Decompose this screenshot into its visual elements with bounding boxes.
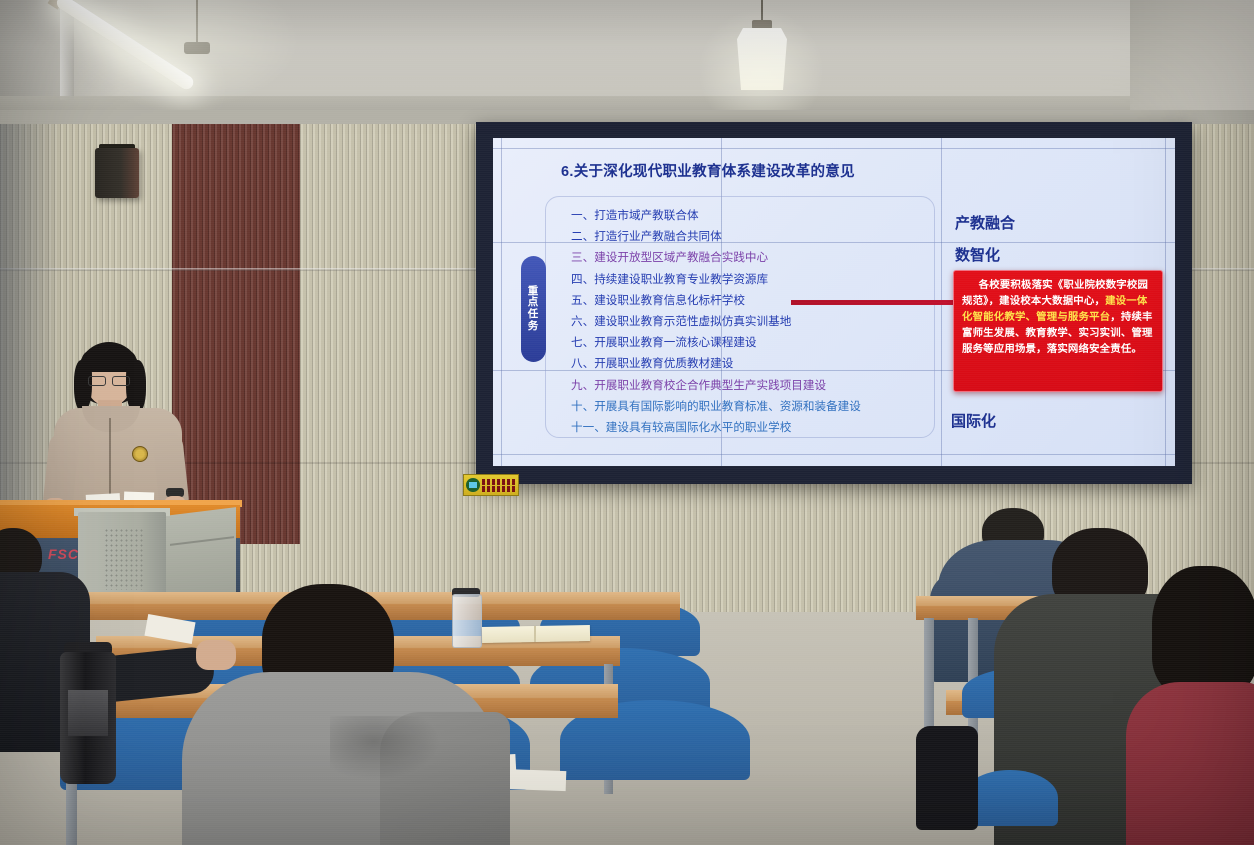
list-item: 四、持续建设职业教育专业教学资源库 xyxy=(571,274,951,286)
pendant-cap xyxy=(752,20,772,29)
bag xyxy=(916,726,978,830)
keyword-guojihua: 国际化 xyxy=(951,410,996,431)
open-notebook xyxy=(482,625,590,643)
list-item: 八、开展职业教育优质教材建设 xyxy=(571,358,951,370)
light-stem xyxy=(196,0,198,44)
glasses-icon xyxy=(88,376,130,384)
presentation-slide: 6.关于深化现代职业教育体系建设改革的意见 重 点 任 务 一、打造市域产教联合… xyxy=(493,138,1175,466)
list-item: 三、建设开放型区域产教融合实践中心 xyxy=(571,252,951,264)
lectern-side-panel xyxy=(164,507,236,602)
presenter-badge xyxy=(132,446,148,462)
callout-text: 各校要积极落实《职业院校数字校园规范》，建设校本大数据中心，建设一体化智能化教学… xyxy=(962,278,1154,358)
list-item: 七、开展职业教育一流核心课程建设 xyxy=(571,337,951,349)
presenter-zipper xyxy=(109,418,111,504)
list-item: 二、打造行业产教融合共同体 xyxy=(571,231,951,243)
wall-speaker-icon xyxy=(95,148,139,198)
list-item: 十、开展具有国际影响的职业教育标准、资源和装备建设 xyxy=(571,401,951,413)
slide-gridline xyxy=(1165,138,1166,466)
slide-surface: 6.关于深化现代职业教育体系建设改革的意见 重 点 任 务 一、打造市域产教联合… xyxy=(493,138,1175,466)
keyword-shuzhihua: 数智化 xyxy=(955,244,1000,265)
lectern-vent-grille xyxy=(104,528,144,590)
audience-arm xyxy=(930,572,1000,682)
light-mount xyxy=(184,42,210,54)
key-tasks-char-4: 务 xyxy=(528,321,540,333)
key-tasks-tab: 重 点 任 务 xyxy=(521,256,546,362)
list-item: 一、打造市域产教联合体 xyxy=(571,210,951,222)
monitor-icon xyxy=(466,478,480,492)
red-callout-box: 各校要积极落实《职业院校数字校园规范》，建设校本大数据中心，建设一体化智能化教学… xyxy=(953,270,1163,392)
presenter-hair-left xyxy=(74,360,92,412)
slide-item-list: 一、打造市域产教联合体 二、打造行业产教融合共同体 三、建设开放型区域产教融合实… xyxy=(571,210,951,443)
slide-gridline xyxy=(493,454,1175,455)
audience-hand xyxy=(196,640,236,670)
pendant-lantern-light-icon xyxy=(737,28,787,90)
list-item: 十一、建设具有较高国际化水平的职业学校 xyxy=(571,422,951,434)
list-item: 九、开展职业教育校企合作典型生产实践项目建设 xyxy=(571,380,951,392)
notebook-spine xyxy=(534,626,536,642)
audience-head xyxy=(1152,566,1254,696)
thermos-label xyxy=(68,690,108,736)
pendant-cord xyxy=(761,0,763,22)
keyword-chanjiao-ronghe: 产教融合 xyxy=(955,212,1015,233)
slide-gridline xyxy=(501,138,502,466)
slide-title: 6.关于深化现代职业教育体系建设改革的意见 xyxy=(561,160,855,181)
water-bottle xyxy=(452,594,482,648)
notice-text-lines xyxy=(482,479,516,492)
list-item: 六、建设职业教育示范性虚拟仿真实训基地 xyxy=(571,316,951,328)
projection-screen[interactable]: 6.关于深化现代职业教育体系建设改革的意见 重 点 任 务 一、打造市域产教联合… xyxy=(476,122,1192,484)
audience-shading xyxy=(330,716,440,780)
key-tasks-char-3: 任 xyxy=(528,309,540,321)
ceiling-column-right xyxy=(1130,0,1254,120)
audience-body xyxy=(1126,682,1254,845)
safety-notice-sign xyxy=(463,474,519,496)
lecture-hall-scene: 6.关于深化现代职业教育体系建设改革的意见 重 点 任 务 一、打造市域产教联合… xyxy=(0,0,1254,845)
slide-gridline xyxy=(493,148,1175,149)
